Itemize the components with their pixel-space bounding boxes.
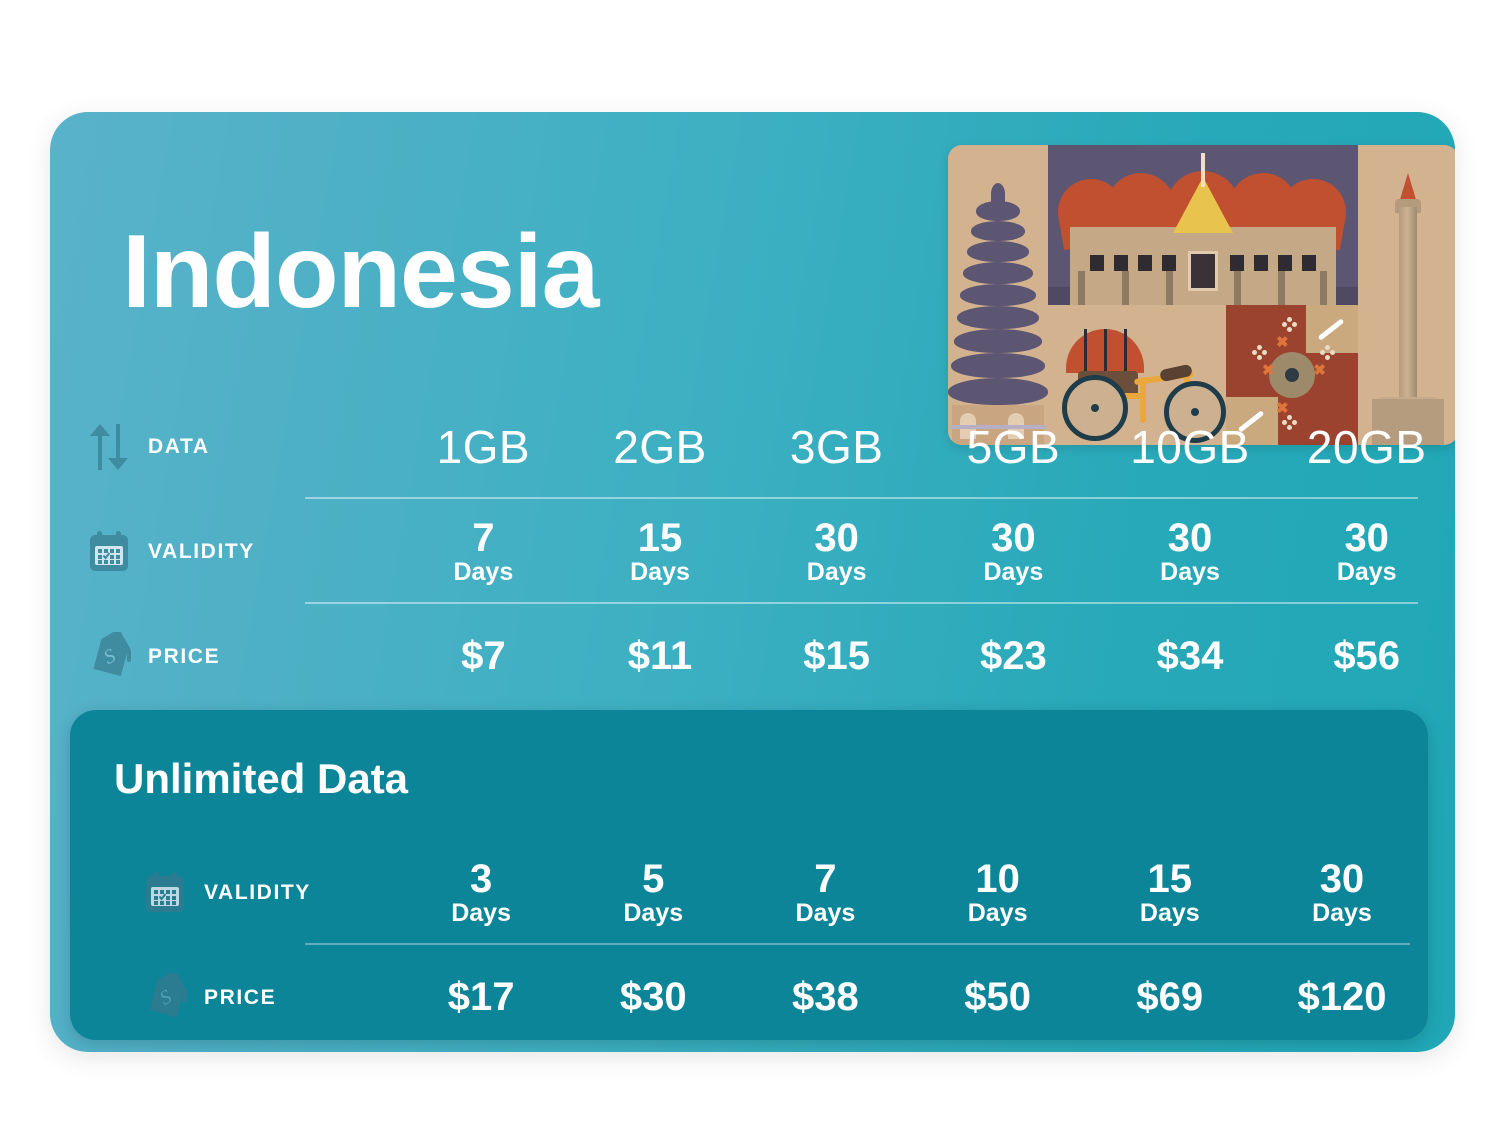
cell-unlimited-validity-0: 3 Days [395, 859, 567, 927]
row-label-data-text: DATA [148, 435, 210, 459]
cell-price-2: $15 [748, 634, 925, 679]
row-label-validity: VALIDITY [50, 529, 395, 575]
row-label-unlimited-price: S PRICE [70, 973, 395, 1023]
cell-data-3: 5GB [925, 420, 1102, 474]
cell-data-0: 1GB [395, 420, 572, 474]
cell-data-1: 2GB [572, 420, 749, 474]
metered-plans-table: DATA 1GB 2GB 3GB 5GB 10GB 20GB [50, 394, 1455, 709]
validity-number: 30 [748, 518, 925, 558]
unlimited-plans-table: VALIDITY 3 Days 5 Days 7 Days [70, 840, 1428, 1050]
data-value: 2GB [613, 421, 707, 473]
price-value: $50 [964, 975, 1031, 1019]
validity-unit: Days [1256, 899, 1428, 927]
price-cells: $7 $11 $15 $23 $34 $56 [395, 634, 1455, 679]
page-title: Indonesia [122, 220, 598, 324]
unlimited-data-panel: Unlimited Data [70, 710, 1428, 1040]
price-value: $15 [803, 634, 870, 678]
data-transfer-arrows-icon [86, 422, 148, 472]
cell-validity-0: 7 Days [395, 518, 572, 586]
row-label-price: S PRICE [50, 632, 395, 682]
price-value: $34 [1157, 634, 1224, 678]
cell-unlimited-validity-4: 15 Days [1084, 859, 1256, 927]
validity-number: 7 [395, 518, 572, 558]
price-value: $17 [448, 975, 515, 1019]
cell-data-4: 10GB [1102, 420, 1279, 474]
row-label-unlimited-validity: VALIDITY [70, 870, 395, 916]
validity-unit: Days [912, 899, 1084, 927]
data-cells: 1GB 2GB 3GB 5GB 10GB 20GB [395, 420, 1455, 474]
price-value: $11 [628, 634, 693, 678]
price-value: $23 [980, 634, 1047, 678]
unlimited-section-title: Unlimited Data [114, 755, 408, 803]
data-value: 1GB [437, 421, 531, 473]
row-label-unlimited-validity-text: VALIDITY [204, 881, 311, 905]
data-value: 10GB [1130, 421, 1250, 473]
price-value: $69 [1136, 975, 1203, 1019]
cell-data-2: 3GB [748, 420, 925, 474]
validity-number: 3 [395, 859, 567, 899]
calendar-icon [86, 529, 148, 575]
cell-validity-5: 30 Days [1278, 518, 1455, 586]
cell-unlimited-validity-3: 10 Days [912, 859, 1084, 927]
minangkabau-house-image [1048, 145, 1358, 305]
calendar-icon [142, 870, 204, 916]
validity-unit: Days [739, 899, 911, 927]
validity-unit: Days [748, 558, 925, 586]
validity-number: 5 [567, 859, 739, 899]
cell-price-0: $7 [395, 634, 572, 679]
cell-unlimited-validity-5: 30 Days [1256, 859, 1428, 927]
table-row-data: DATA 1GB 2GB 3GB 5GB 10GB 20GB [50, 394, 1455, 499]
validity-unit: Days [572, 558, 749, 586]
data-value: 5GB [967, 421, 1061, 473]
validity-number: 7 [739, 859, 911, 899]
validity-number: 15 [1084, 859, 1256, 899]
country-plan-card: Indonesia [50, 112, 1455, 1052]
cell-validity-1: 15 Days [572, 518, 749, 586]
cell-data-5: 20GB [1278, 420, 1455, 474]
validity-number: 15 [572, 518, 749, 558]
validity-unit: Days [925, 558, 1102, 586]
data-value: 3GB [790, 421, 884, 473]
cell-unlimited-validity-1: 5 Days [567, 859, 739, 927]
row-label-validity-text: VALIDITY [148, 540, 255, 564]
cell-validity-2: 30 Days [748, 518, 925, 586]
cell-price-4: $34 [1102, 634, 1279, 679]
price-value: $38 [792, 975, 859, 1019]
cell-price-1: $11 [572, 634, 749, 679]
cell-unlimited-price-0: $17 [395, 975, 567, 1020]
validity-number: 30 [1102, 518, 1279, 558]
cell-unlimited-validity-2: 7 Days [739, 859, 911, 927]
validity-cells: 7 Days 15 Days 30 Days 30 Days 30 Days [395, 518, 1455, 586]
table-row-unlimited-validity: VALIDITY 3 Days 5 Days 7 Days [70, 840, 1428, 945]
price-value: $7 [461, 634, 506, 678]
validity-number: 30 [1256, 859, 1428, 899]
price-value: $56 [1333, 634, 1400, 678]
price-value: $30 [620, 975, 687, 1019]
cell-price-3: $23 [925, 634, 1102, 679]
cell-price-5: $56 [1278, 634, 1455, 679]
validity-unit: Days [395, 558, 572, 586]
cell-unlimited-price-5: $120 [1256, 975, 1428, 1020]
validity-number: 30 [1278, 518, 1455, 558]
row-label-data: DATA [50, 422, 395, 472]
price-tag-icon: S [142, 973, 204, 1023]
row-label-unlimited-price-text: PRICE [204, 986, 276, 1010]
data-value: 20GB [1307, 421, 1427, 473]
validity-number: 10 [912, 859, 1084, 899]
validity-unit: Days [1278, 558, 1455, 586]
validity-unit: Days [395, 899, 567, 927]
table-row-validity: VALIDITY 7 Days 15 Days 30 Days 30 Days [50, 499, 1455, 604]
row-label-price-text: PRICE [148, 645, 220, 669]
validity-number: 30 [925, 518, 1102, 558]
unlimited-price-cells: $17 $30 $38 $50 $69 $120 [395, 975, 1428, 1020]
cell-unlimited-price-4: $69 [1084, 975, 1256, 1020]
price-value: $120 [1297, 975, 1386, 1019]
cell-unlimited-price-2: $38 [739, 975, 911, 1020]
cell-unlimited-price-1: $30 [567, 975, 739, 1020]
cell-validity-4: 30 Days [1102, 518, 1279, 586]
unlimited-validity-cells: 3 Days 5 Days 7 Days 10 Days [395, 859, 1428, 927]
validity-unit: Days [567, 899, 739, 927]
validity-unit: Days [1102, 558, 1279, 586]
cell-validity-3: 30 Days [925, 518, 1102, 586]
validity-unit: Days [1084, 899, 1256, 927]
price-tag-icon: S [86, 632, 148, 682]
cell-unlimited-price-3: $50 [912, 975, 1084, 1020]
table-row-price: S PRICE $7 $11 $15 $23 $34 $56 [50, 604, 1455, 709]
table-row-unlimited-price: S PRICE $17 $30 $38 $50 $69 $120 [70, 945, 1428, 1050]
